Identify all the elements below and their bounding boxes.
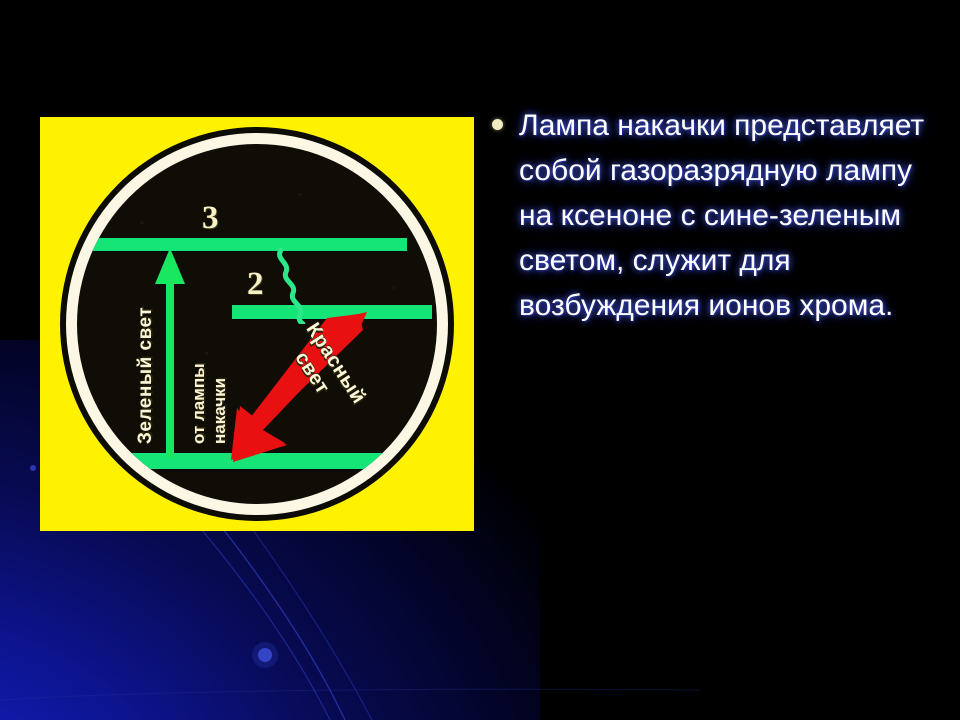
diagram-disc: 3 2 1 Зеленый свет от лампы накачки bbox=[77, 144, 437, 504]
diagram-circle: 3 2 1 Зеленый свет от лампы накачки bbox=[60, 127, 454, 521]
energy-level-bar-3 bbox=[85, 238, 407, 251]
pump-absorption-arrow bbox=[155, 248, 185, 458]
bullet-point-icon bbox=[492, 119, 503, 130]
level-number-3: 3 bbox=[202, 202, 219, 235]
label-pump-lamp-line1: от лампы bbox=[189, 363, 208, 444]
label-green-light: Зеленый свет bbox=[135, 307, 157, 444]
energy-level-diagram-image: 3 2 1 Зеленый свет от лампы накачки bbox=[40, 117, 474, 531]
bullet-paragraph: Лампа накачки представляет собой газораз… bbox=[519, 103, 938, 328]
bullet-list-item: Лампа накачки представляет собой газораз… bbox=[492, 103, 938, 328]
content-text-block: Лампа накачки представляет собой газораз… bbox=[492, 103, 938, 328]
level-number-2: 2 bbox=[247, 268, 264, 301]
slide-canvas: 3 2 1 Зеленый свет от лампы накачки bbox=[0, 0, 960, 720]
